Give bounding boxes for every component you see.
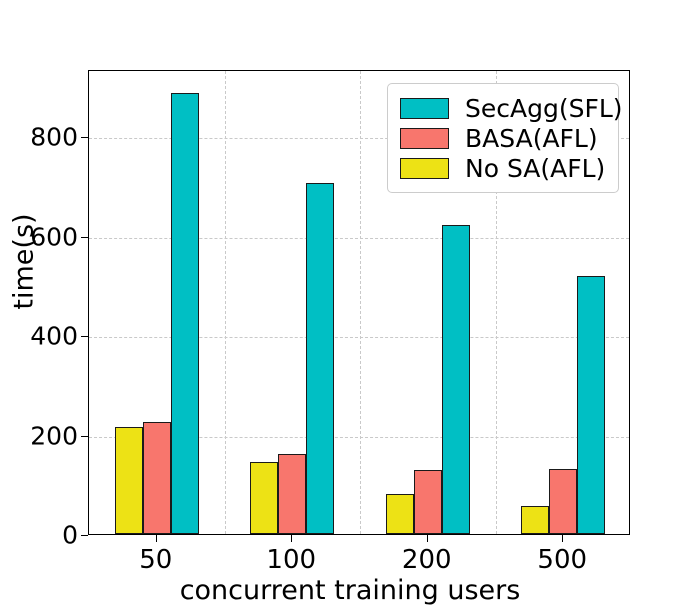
y-axis-tick-label: 400 bbox=[0, 322, 78, 351]
bar bbox=[250, 462, 278, 534]
y-axis-tick-mark bbox=[81, 336, 88, 337]
bar bbox=[143, 422, 171, 534]
gridline-vertical bbox=[360, 71, 361, 534]
legend-item: BASA(AFL) bbox=[400, 123, 608, 153]
x-axis-tick-mark bbox=[156, 535, 157, 542]
bar bbox=[386, 494, 414, 534]
y-axis-tick-mark bbox=[81, 237, 88, 238]
bar-group bbox=[250, 71, 334, 534]
legend-item: SecAgg(SFL) bbox=[400, 93, 608, 123]
bar bbox=[549, 469, 577, 534]
bar bbox=[306, 183, 334, 534]
y-axis-tick-mark bbox=[81, 436, 88, 437]
legend-color-swatch bbox=[400, 98, 449, 119]
y-axis-label: time(s) bbox=[9, 132, 40, 392]
y-axis-tick-label: 0 bbox=[0, 521, 78, 550]
bar-group bbox=[115, 71, 199, 534]
legend-item-label: BASA(AFL) bbox=[465, 124, 598, 153]
bar bbox=[414, 470, 442, 534]
bar bbox=[171, 93, 199, 534]
bar bbox=[577, 276, 605, 534]
chart-legend: SecAgg(SFL)BASA(AFL)No SA(AFL) bbox=[387, 83, 619, 193]
y-axis-tick-label: 600 bbox=[0, 222, 78, 251]
x-axis-tick-label: 500 bbox=[537, 545, 587, 575]
y-axis-tick-label: 200 bbox=[0, 421, 78, 450]
y-axis-tick-mark bbox=[81, 535, 88, 536]
x-axis-tick-mark bbox=[562, 535, 563, 542]
x-axis-label: concurrent training users bbox=[0, 575, 700, 606]
x-axis-tick-label: 50 bbox=[139, 545, 172, 575]
gridline-vertical bbox=[225, 71, 226, 534]
x-axis-tick-mark bbox=[427, 535, 428, 542]
x-axis-tick-label: 100 bbox=[266, 545, 316, 575]
legend-item-label: No SA(AFL) bbox=[465, 154, 605, 183]
legend-item-label: SecAgg(SFL) bbox=[465, 94, 623, 123]
x-axis-tick-label: 200 bbox=[402, 545, 452, 575]
legend-item: No SA(AFL) bbox=[400, 153, 608, 183]
x-axis-tick-mark bbox=[291, 535, 292, 542]
bar bbox=[115, 427, 143, 534]
bar bbox=[521, 506, 549, 534]
bar bbox=[278, 454, 306, 534]
legend-color-swatch bbox=[400, 128, 449, 149]
bar bbox=[442, 225, 470, 534]
legend-color-swatch bbox=[400, 158, 449, 179]
y-axis-tick-label: 800 bbox=[0, 123, 78, 152]
y-axis-tick-mark bbox=[81, 137, 88, 138]
bar-chart-figure: time(s) concurrent training users 020040… bbox=[0, 0, 700, 600]
